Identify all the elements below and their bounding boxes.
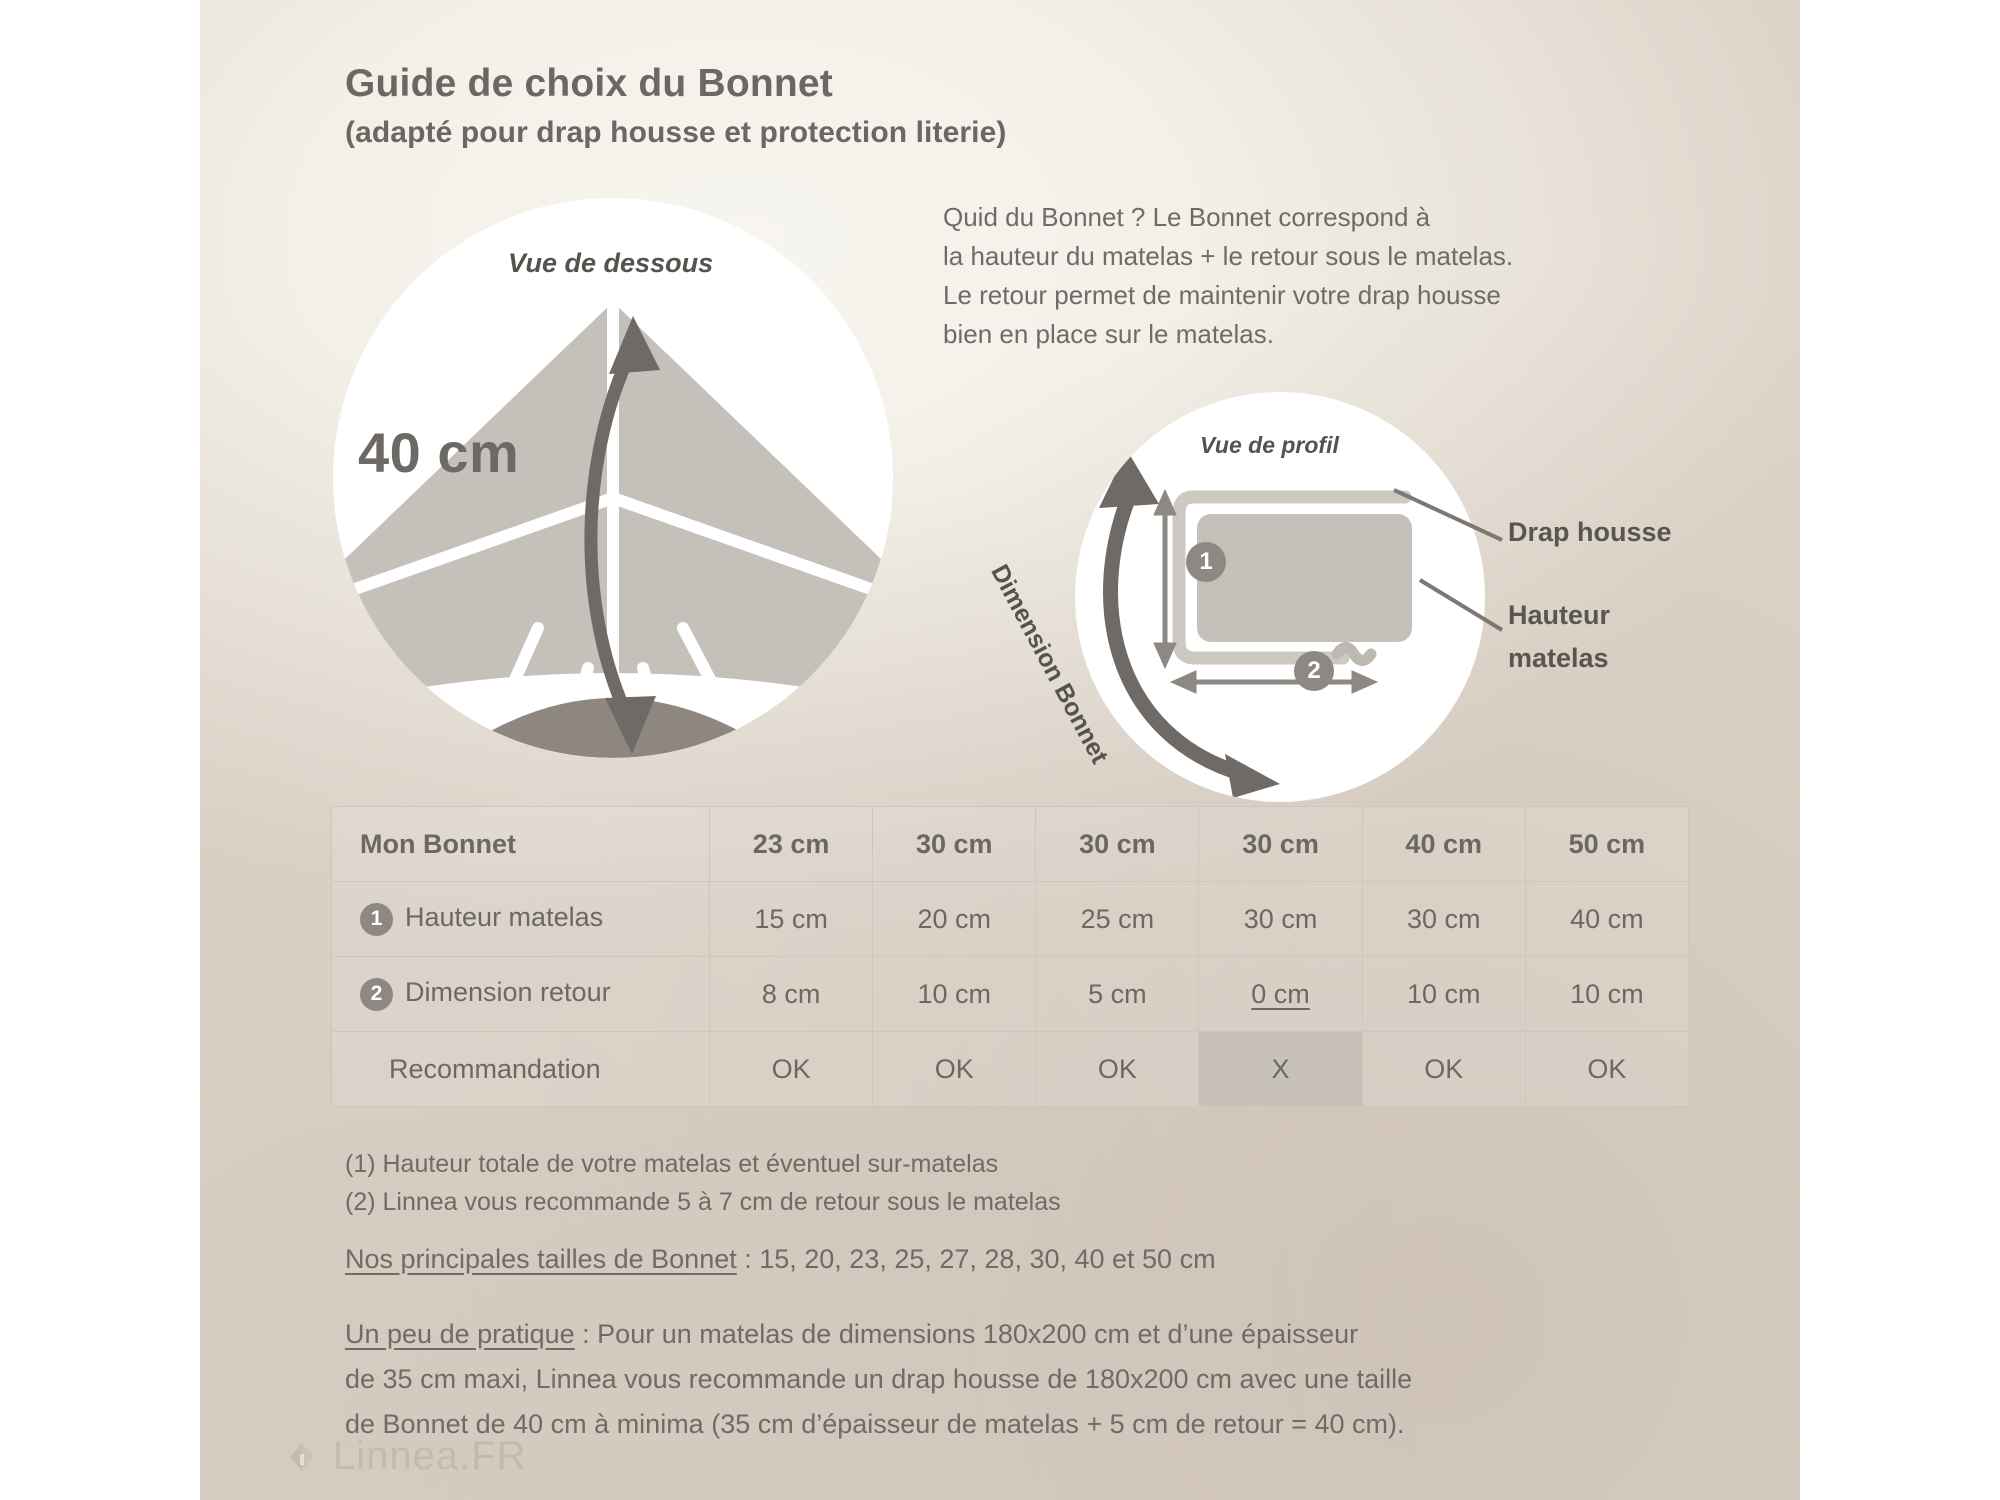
table-header-cell: 30 cm	[1199, 807, 1362, 882]
brand-name: Linnea.FR	[333, 1434, 527, 1479]
table-cell: 20 cm	[873, 882, 1036, 957]
footnote-1: (1) Hauteur totale de votre matelas et é…	[345, 1150, 998, 1179]
table-cell: 15 cm	[710, 882, 873, 957]
table-cell: OK	[1362, 1032, 1525, 1107]
table-cell: 25 cm	[1036, 882, 1199, 957]
bonnet-table: Mon Bonnet 23 cm 30 cm 30 cm 30 cm 40 cm…	[331, 806, 1689, 1107]
page-title: Guide de choix du Bonnet	[345, 62, 833, 106]
row-badge-2: 2	[360, 978, 393, 1011]
table-row: 1Hauteur matelas 15 cm 20 cm 25 cm 30 cm…	[332, 882, 1689, 957]
table-cell: 8 cm	[710, 957, 873, 1032]
infographic-canvas: Guide de choix du Bonnet (adapté pour dr…	[0, 0, 2000, 1500]
bottom-view-measure-label: 40 cm	[358, 420, 519, 485]
table-header-cell: 40 cm	[1362, 807, 1525, 882]
table-cell: 10 cm	[873, 957, 1036, 1032]
table-cell: OK	[1036, 1032, 1199, 1107]
profile-view-caption: Vue de profil	[1200, 432, 1339, 459]
bonnet-table-container: Mon Bonnet 23 cm 30 cm 30 cm 30 cm 40 cm…	[331, 806, 1689, 1107]
diagram-badge-2: 2	[1294, 651, 1334, 691]
practical-line-1: Un peu de pratique : Pour un matelas de …	[345, 1312, 1412, 1357]
table-cell: 10 cm	[1525, 957, 1688, 1032]
table-cell: 40 cm	[1525, 882, 1688, 957]
footnote-2: (2) Linnea vous recommande 5 à 7 cm de r…	[345, 1188, 1061, 1217]
table-cell-highlighted: 0 cm	[1199, 957, 1362, 1032]
intro-paragraph: Quid du Bonnet ? Le Bonnet correspond à …	[943, 198, 1703, 354]
table-header-cell: 23 cm	[710, 807, 873, 882]
table-header-cell: 30 cm	[1036, 807, 1199, 882]
callout-hauteur-matelas-line2: matelas	[1508, 643, 1609, 674]
intro-line-1: Quid du Bonnet ? Le Bonnet correspond à	[943, 198, 1703, 237]
intro-line-2: la hauteur du matelas + le retour sous l…	[943, 237, 1703, 276]
table-header-cell: 30 cm	[873, 807, 1036, 882]
table-cell-not-recommended: X	[1199, 1032, 1362, 1107]
practical-paragraph: Un peu de pratique : Pour un matelas de …	[345, 1312, 1412, 1447]
page-subtitle: (adapté pour drap housse et protection l…	[345, 116, 1006, 150]
row-label-text: Dimension retour	[405, 977, 611, 1007]
table-cell: 30 cm	[1362, 882, 1525, 957]
sizes-value: : 15, 20, 23, 25, 27, 28, 30, 40 et 50 c…	[737, 1244, 1216, 1274]
callout-hauteur-matelas-line1: Hauteur	[1508, 600, 1610, 631]
table-header-row: Mon Bonnet 23 cm 30 cm 30 cm 30 cm 40 cm…	[332, 807, 1689, 882]
callout-leader-lines	[1380, 480, 1580, 710]
intro-line-3: Le retour permet de maintenir votre drap…	[943, 276, 1703, 315]
row-label-recommandation: Recommandation	[332, 1032, 710, 1107]
table-cell: 5 cm	[1036, 957, 1199, 1032]
linnea-diamond-icon	[285, 1440, 319, 1474]
row-label-hauteur-matelas: 1Hauteur matelas	[332, 882, 710, 957]
row-label-dimension-retour: 2Dimension retour	[332, 957, 710, 1032]
table-cell: OK	[1525, 1032, 1688, 1107]
table-cell: OK	[873, 1032, 1036, 1107]
sizes-line: Nos principales tailles de Bonnet : 15, …	[345, 1244, 1216, 1275]
row-label-text: Hauteur matelas	[405, 902, 603, 932]
table-cell: 10 cm	[1362, 957, 1525, 1032]
table-cell: 30 cm	[1199, 882, 1362, 957]
practical-line-2: de 35 cm maxi, Linnea vous recommande un…	[345, 1357, 1412, 1402]
practical-label: Un peu de pratique	[345, 1319, 575, 1349]
table-cell: OK	[710, 1032, 873, 1107]
callout-drap-housse: Drap housse	[1508, 517, 1672, 548]
table-header-cell: 50 cm	[1525, 807, 1688, 882]
table-header-cell: Mon Bonnet	[332, 807, 710, 882]
sizes-label: Nos principales tailles de Bonnet	[345, 1244, 737, 1274]
bottom-view-caption: Vue de dessous	[508, 248, 713, 279]
brand-logo: Linnea.FR	[285, 1434, 527, 1479]
row-badge-1: 1	[360, 903, 393, 936]
practical-text-1: : Pour un matelas de dimensions 180x200 …	[575, 1319, 1358, 1349]
diagram-badge-1: 1	[1186, 542, 1226, 582]
intro-line-4: bien en place sur le matelas.	[943, 315, 1703, 354]
table-row: Recommandation OK OK OK X OK OK	[332, 1032, 1689, 1107]
table-row: 2Dimension retour 8 cm 10 cm 5 cm 0 cm 1…	[332, 957, 1689, 1032]
